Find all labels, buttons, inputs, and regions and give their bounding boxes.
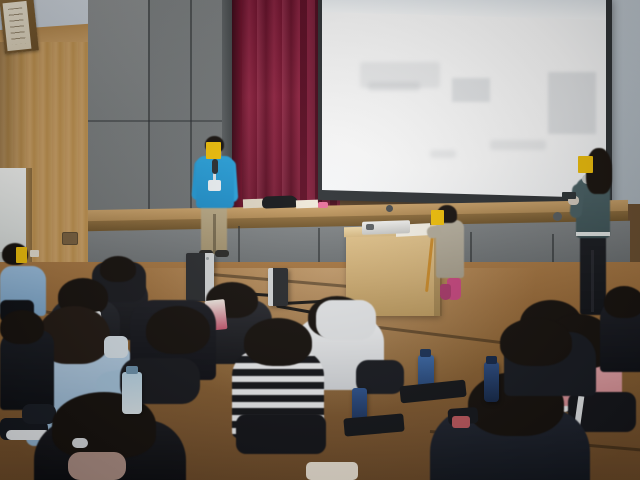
child-hair (100, 256, 136, 282)
child-hair (604, 286, 640, 318)
child-body (316, 300, 376, 340)
ledge-knob (553, 212, 562, 221)
bottle-cap (486, 356, 497, 364)
screen-ghost-content (368, 82, 420, 91)
photo-scene (0, 0, 640, 480)
screen-ghost-content (490, 140, 546, 150)
paper-on-floor (306, 462, 358, 480)
child-lower-body (236, 414, 326, 454)
screen-ghost-content (430, 150, 456, 158)
child-hair (0, 310, 44, 344)
wall-outlet-small (30, 250, 39, 257)
child-hand (68, 452, 126, 480)
ledge-knob (386, 205, 393, 212)
ledge-bag (262, 195, 298, 208)
bottle-cap (420, 349, 431, 357)
child-sneaker (22, 404, 56, 424)
screen-ghost-content (452, 78, 490, 102)
woman-papers (562, 192, 576, 199)
child-hair (244, 318, 312, 366)
hair-tie (72, 438, 88, 448)
face-redaction-icon (578, 156, 593, 173)
red-object (452, 416, 470, 428)
speaker-indicator (206, 257, 209, 260)
child-hair (146, 306, 210, 354)
panel-horizontal-seam (88, 120, 228, 122)
face-redaction-icon (431, 210, 444, 225)
face-redaction-icon (16, 247, 27, 263)
ledge-papers-2 (296, 200, 318, 209)
face-redaction-icon (206, 142, 221, 159)
thermos-bottle-light (122, 372, 142, 414)
child-hair (500, 318, 572, 366)
thermos-bottle-navy (484, 362, 499, 402)
woman-shirt-hem (576, 232, 610, 236)
woman-leg-gap (591, 250, 594, 312)
child-hand (104, 336, 128, 358)
projector-lens (366, 224, 374, 230)
operator-pink-boot (440, 284, 451, 300)
bottle-cap (126, 366, 138, 374)
presenter-leg-gap (213, 214, 216, 254)
ledge-papers (243, 199, 263, 209)
speaker-cabinet-right (268, 268, 288, 306)
microphone-icon (212, 159, 218, 174)
screen-ghost-content (548, 72, 596, 134)
presenter-name-badge (208, 180, 221, 191)
presenter-shoe (215, 250, 229, 257)
ledge-pink-object (318, 202, 328, 208)
wall-outlet (62, 232, 78, 245)
